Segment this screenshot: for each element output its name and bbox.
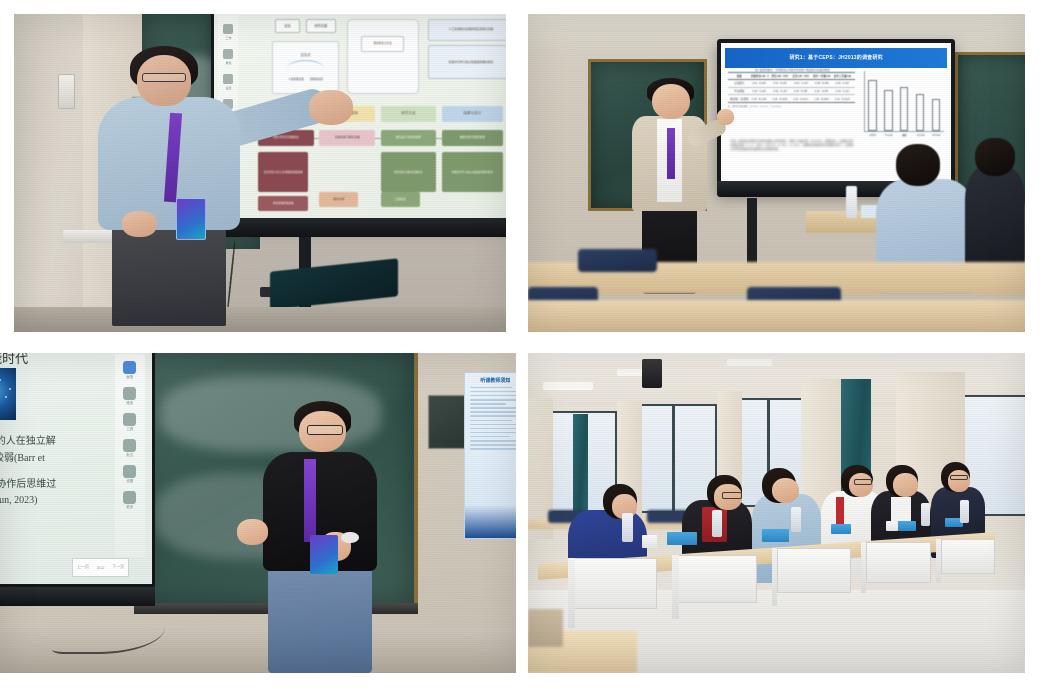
glasses-icon [950,475,967,480]
water-bottle [791,507,801,533]
fc-detail-3: 智能时代学习者认知发展的理论框架 [442,152,503,192]
fc-right-card-2: 智能时代学习者认知发展的理论框架 [428,45,506,79]
desk-leg [861,542,866,593]
foreground-object [528,609,563,647]
chair-back [578,249,658,271]
fc-mid-inner: 理论框架与方法 [361,36,405,52]
reviewer-2-head [975,138,1015,176]
glasses-icon [307,425,343,435]
desk-panel [866,542,931,584]
desk-panel [573,558,657,609]
role-icon[interactable]: 角色 [218,49,238,65]
presenter-hand-left [122,211,156,236]
paper-cup [642,535,657,548]
fc-stage-4: 数据分析与结果呈现 [442,130,503,146]
desk-leg [568,558,575,628]
fc-gauge-title: 交互式 [300,53,310,57]
reviewer-2-body [965,167,1025,275]
name-plate [667,532,697,545]
wall-switch [58,74,75,109]
presenter-hand-left [237,519,268,545]
fc-detail-1: 混合研究方法与多源数据采集策略 [258,152,308,192]
desk-panel [941,539,996,574]
ceiling-light [543,382,593,390]
whiteboard-bezel [0,587,155,606]
fc-detail-2: 研究结论与教育实践启示 [381,152,437,192]
annotate-icon[interactable]: 批注 [115,439,145,458]
fc-detail-6: 三角验证 [381,192,420,206]
water-bottle [960,500,969,522]
presenter-hand [717,109,734,125]
photo-collage: 工作 角色 设置 更多 目标 研究问题 交互式 人类智能表现 [0,0,1039,693]
slide-line-1: 擎的人在独立解 [0,434,56,450]
poster-title: 听课教师须知 [465,377,516,384]
table-header-row: 变量 全体样本\nM（SD） 男生\nM（SD） 女生\nM（SD） 初中一年级… [728,72,855,80]
fc-stage-2: 文献综述与理论基础 [319,130,375,146]
slide-page-controls[interactable]: 上一页 3/12 下一页 [72,558,129,577]
water-bottle [846,186,857,218]
floor [14,307,506,332]
eraser-icon[interactable]: 橡皮 [115,387,145,406]
next-page-button[interactable]: 下一页 [112,564,124,570]
water-bottle [622,513,633,542]
lanyard [304,459,315,542]
slide-bar-chart: 认知能力学业成绩总分语文成绩数学成绩 [864,71,945,132]
slide-line-4: Chun, 2023) [0,493,37,509]
photo-top-left: 工作 角色 设置 更多 目标 研究问题 交互式 人类智能表现 [14,14,506,332]
window [637,404,717,513]
glasses-icon [142,73,186,83]
reviewer-1-head [896,144,941,185]
information-poster: 听课教师须知 [464,372,516,538]
fc-stage-3: 研究设计与样本选择 [381,130,437,146]
water-bottle [921,503,930,525]
presenter-hand [309,90,353,125]
glasses-icon [854,479,873,485]
page-indicator: 3/12 [97,565,105,570]
reviewer-3-face [772,478,799,504]
photo-top-right: 研究1：基于CEPS：JH2013的调查研究 表1 描述性统计、不同性别与学段学… [528,14,1025,332]
fc-top-box-2: 研究问题 [306,19,337,33]
conference-badge [310,535,338,573]
presenter-jeans [268,564,371,673]
photo-bottom-right [528,353,1025,673]
fc-gauge-card: 交互式 人类智能表现 智能体表现 [272,41,339,93]
table-row: t检验值（显著性） 2.35（0.019） 2.18（0.029） 2.04（0… [728,95,855,103]
reviewer-5-shirt [891,497,911,523]
interactive-whiteboard[interactable]: 能时代 AI 擎的人在独立解 力较弱(Barr et AI协作后思维过 Chun… [0,353,155,587]
slide-line-2: 力较弱(Barr et [0,451,45,467]
fc-mid-card: 理论框架与方法 [347,19,419,94]
slide-title: 研究1：基于CEPS：JH2013的调查研究 [725,48,946,68]
student-desk-row-2 [528,300,1025,332]
desk-leg [772,548,778,606]
name-plate [831,524,851,534]
fc-gauge-arc [287,60,325,77]
projector [642,359,662,388]
name-plate [762,529,789,542]
lanyard [667,128,675,179]
desk-leg [936,539,941,584]
presenter-head [652,84,689,119]
more-icon[interactable]: 更多 [115,491,145,510]
photo-bottom-left: 能时代 AI 擎的人在独立解 力较弱(Barr et AI协作后思维过 Chun… [0,353,516,673]
table-footnote: 注：括号内为标准差；*p<0.05，**p<0.01，***p<0.001。 [728,104,855,108]
fc-header-3: 研究方法 [381,106,437,122]
fc-detail-4: 新闻智能终端系统 [258,196,308,210]
curtain [573,414,588,516]
prev-page-button[interactable]: 上一页 [77,564,89,570]
fc-top-box-1: 目标 [275,19,300,33]
fc-right-card-1: 人工智能教育应用的现实需求与问题 [428,19,506,41]
reviewer-5-face [893,473,918,497]
tools-icon[interactable]: 工具 [115,413,145,432]
desk-panel [777,548,852,593]
glasses-icon [722,492,742,498]
settings-icon[interactable]: 设置 [218,74,238,90]
pen-icon[interactable]: 画笔 [115,361,145,380]
chart-bar [884,90,892,131]
whiteboard-toolbar[interactable]: 画笔 橡皮 工具 批注 设置 更多 [115,354,145,558]
slide-line-3: AI协作后思维过 [0,477,56,493]
slide-paragraph: 为进一步检验认知能力在学业成绩上的主效应，采用了方差分析（ANOVA）。结果显示… [730,139,854,152]
water-bottle [712,510,722,537]
table-row: 学业成绩 0.00（1.00） -0.05（1.01） 0.06（0.98） 0… [728,88,855,96]
ai-illustration: AI [0,368,16,420]
fc-gauge-label-1: 人类智能表现 [288,78,304,81]
fc-detail-5: 量化分析 [319,192,358,206]
conference-badge [176,198,206,239]
paper-cup [886,521,898,531]
pen-icon[interactable]: 工作 [218,24,238,40]
desk-leg [672,555,678,619]
chart-bar [900,87,908,131]
ceiling-light [727,359,772,366]
chart-xlabel: 维度 [864,133,945,137]
fc-gauge-label-2: 智能体表现 [310,78,323,81]
display-bezel [211,218,506,237]
desk-panel [677,555,757,603]
chart-bar [932,99,940,131]
name-plate [896,521,916,531]
reviewer-6-face [948,470,970,492]
chair-back [647,510,687,523]
chart-bar [916,94,924,130]
gear-icon[interactable]: 设置 [115,465,145,484]
fc-header-4: 结果与设计 [442,106,503,122]
table-row: 认知能力 0.01（0.99） 0.03（0.99） -0.02（1.00） -… [728,80,855,88]
slide-heading: 能时代 [0,353,28,369]
results-table: 变量 全体样本\nM（SD） 男生\nM（SD） 女生\nM（SD） 初中一年级… [728,72,855,136]
wristwatch [341,532,359,543]
chart-bar [868,80,876,131]
